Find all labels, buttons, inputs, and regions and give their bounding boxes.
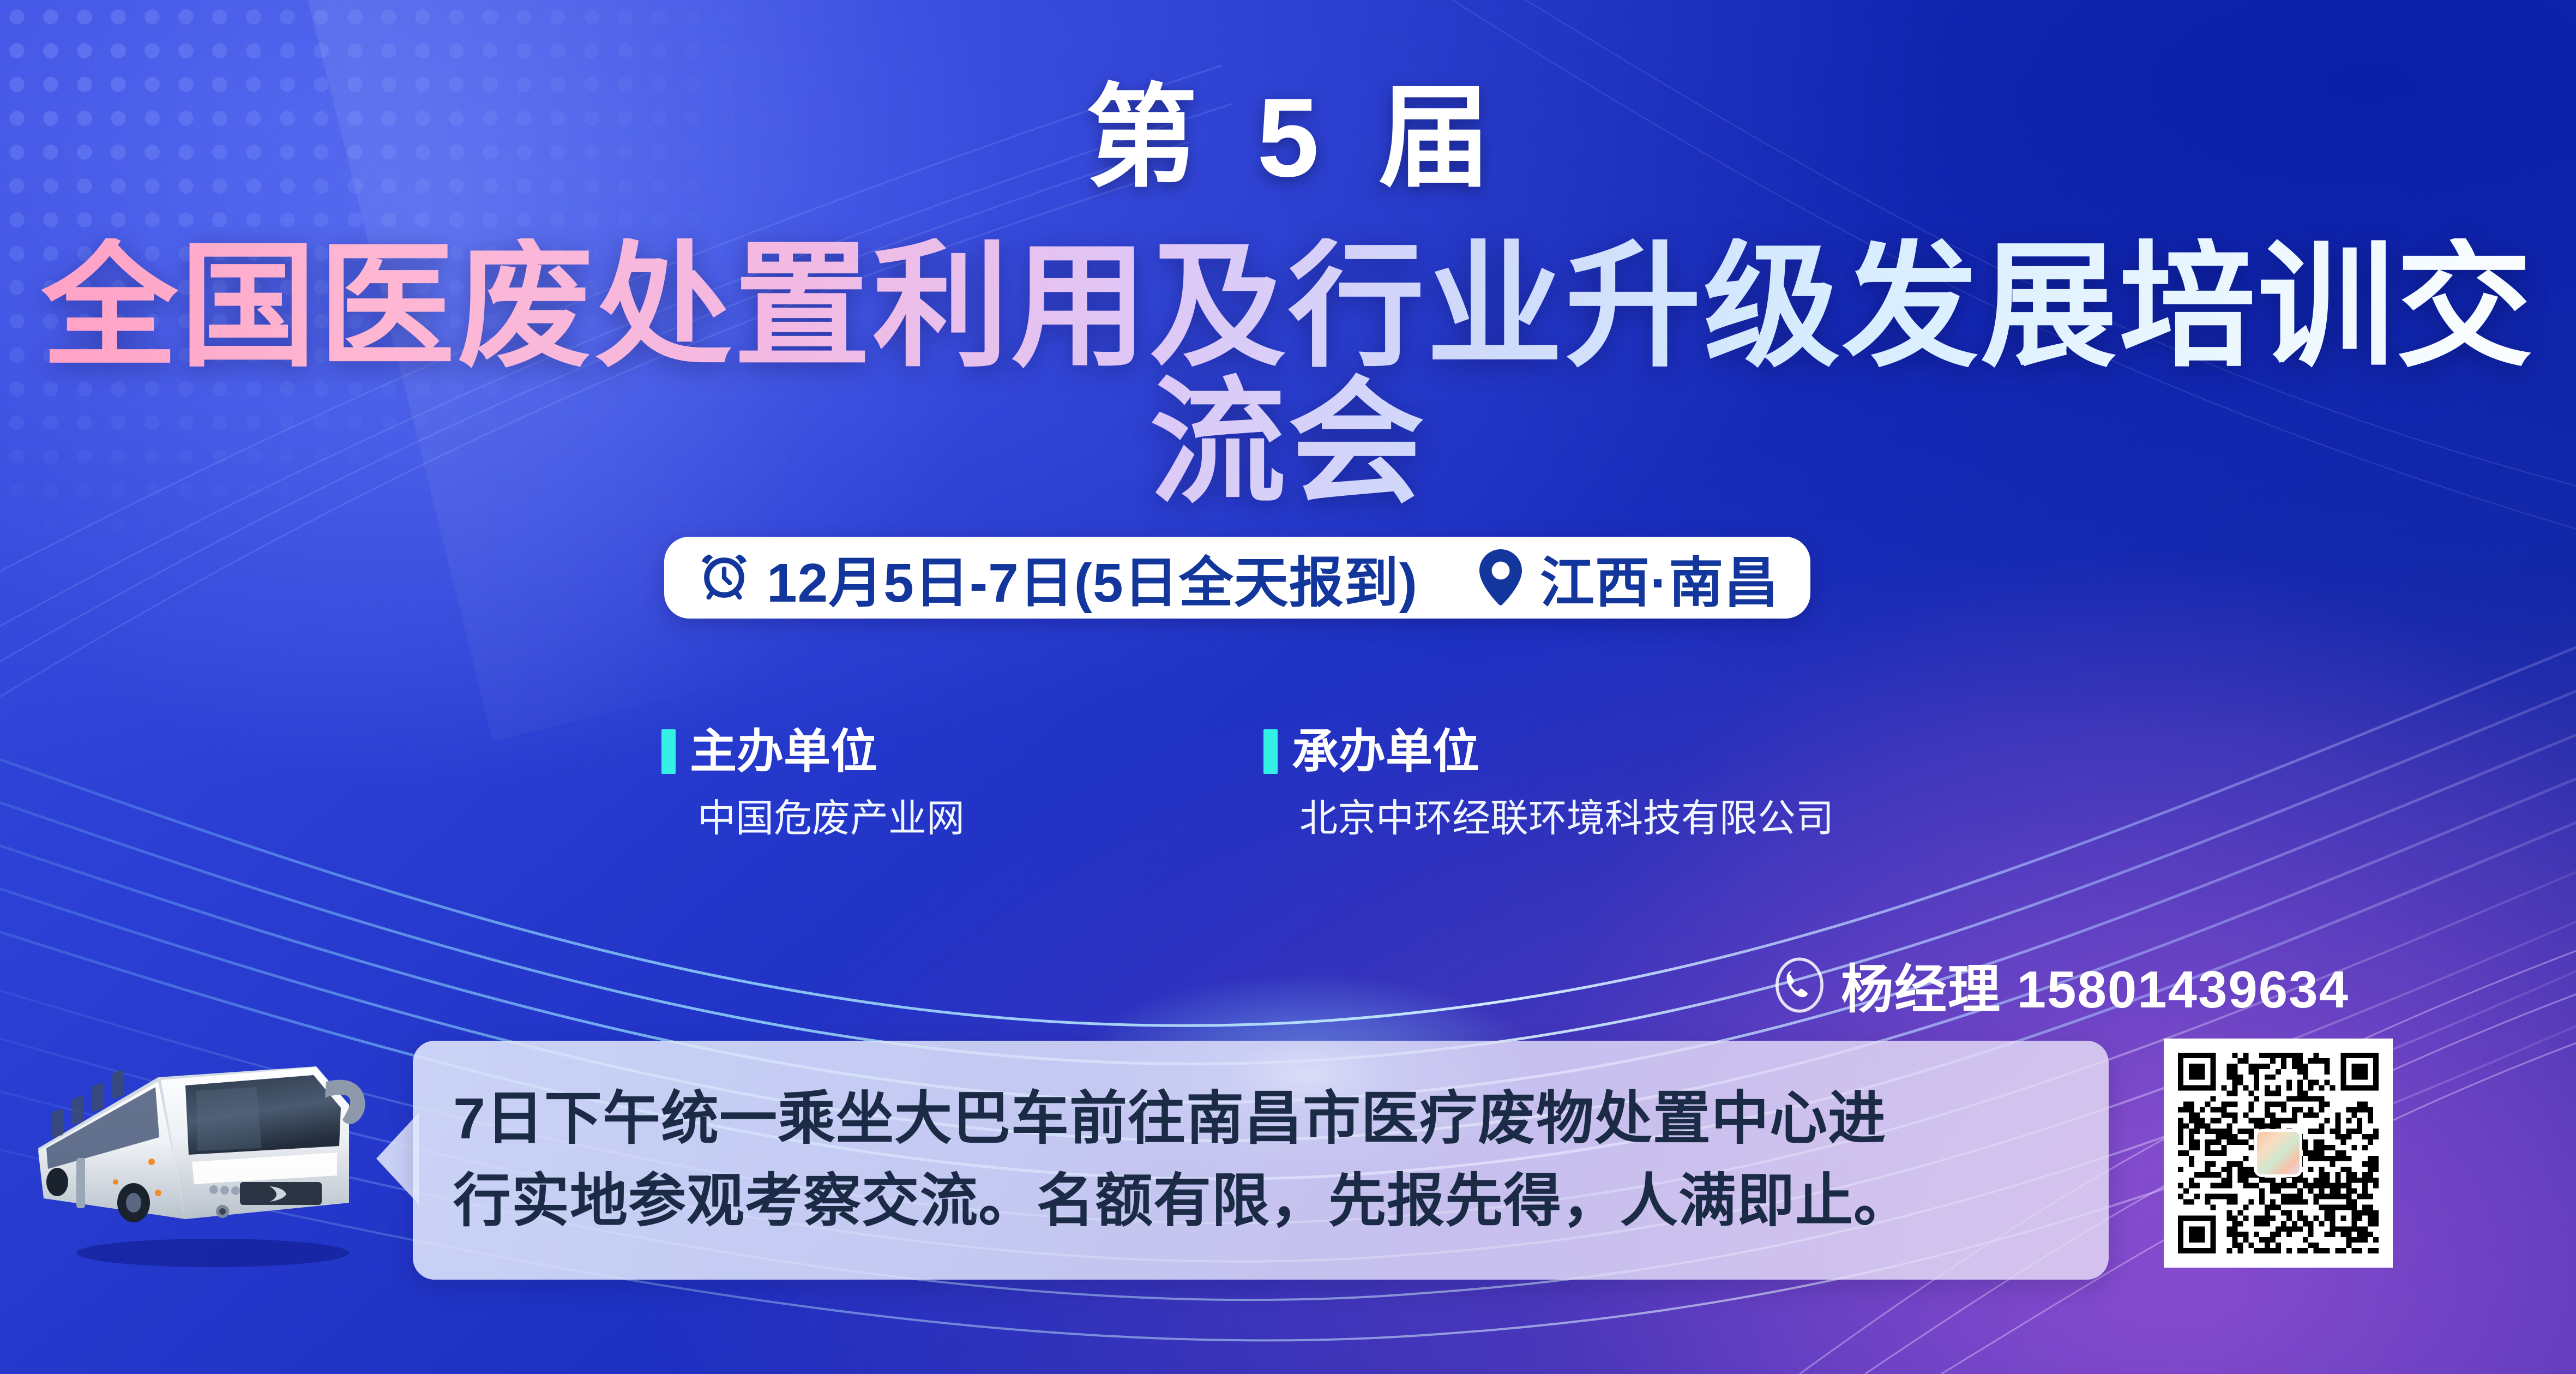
contact-text: 杨经理 15801439634 bbox=[1841, 947, 2349, 1023]
host-organizer-name: 中国危废产业网 bbox=[697, 799, 965, 837]
contact-block: 杨经理 15801439634 bbox=[1771, 947, 2349, 1023]
location-pin-icon bbox=[1476, 549, 1526, 606]
wechat-qr-code[interactable] bbox=[2164, 1039, 2393, 1268]
co-organizer-block: 承办单位 北京中环经联环境科技有限公司 bbox=[1263, 728, 1834, 837]
host-organizer-heading: 主办单位 bbox=[661, 728, 965, 775]
note-panel: 7日下午统一乘坐大巴车前往南昌市医疗废物处置中心进 行实地参观考察交流。名额有限… bbox=[413, 1041, 2109, 1280]
event-headline: 全国医废处置利用及行业升级发展培训交流会 bbox=[0, 238, 2576, 511]
co-organizer-role: 承办单位 bbox=[1292, 728, 1479, 775]
flower-bouquet-avatar bbox=[2254, 1129, 2302, 1177]
event-date-text: 12月5日-7日(5日全天报到) bbox=[767, 538, 1418, 617]
date-location-pill: 12月5日-7日(5日全天报到) 江西·南昌 bbox=[664, 537, 1810, 619]
coach-bus-illustration bbox=[22, 1039, 398, 1274]
note-line-2: 行实地参观考察交流。名额有限，先报先得，人满即止。 bbox=[453, 1160, 1912, 1243]
host-organizer-block: 主办单位 中国危废产业网 bbox=[661, 728, 965, 837]
title-block: 第 5 届 全国医废处置利用及行业升级发展培训交流会 bbox=[0, 82, 2576, 511]
edition-kicker: 第 5 届 bbox=[0, 82, 2576, 194]
co-organizer-name: 北京中环经联环境科技有限公司 bbox=[1299, 799, 1834, 837]
phone-circle-icon bbox=[1771, 957, 1828, 1013]
accent-bar bbox=[661, 729, 676, 774]
host-organizer-role: 主办单位 bbox=[690, 728, 877, 775]
co-organizer-heading: 承办单位 bbox=[1263, 728, 1834, 775]
alarm-clock-icon bbox=[696, 549, 753, 606]
note-line-1: 7日下午统一乘坐大巴车前往南昌市医疗废物处置中心进 bbox=[453, 1078, 1912, 1160]
accent-bar bbox=[1263, 729, 1278, 774]
event-location-text: 江西·南昌 bbox=[1540, 538, 1779, 617]
note-text: 7日下午统一乘坐大巴车前往南昌市医疗废物处置中心进 行实地参观考察交流。名额有限… bbox=[453, 1078, 1912, 1242]
event-banner: 第 5 届 全国医废处置利用及行业升级发展培训交流会 12月5日-7日(5日全天… bbox=[0, 0, 2576, 1374]
